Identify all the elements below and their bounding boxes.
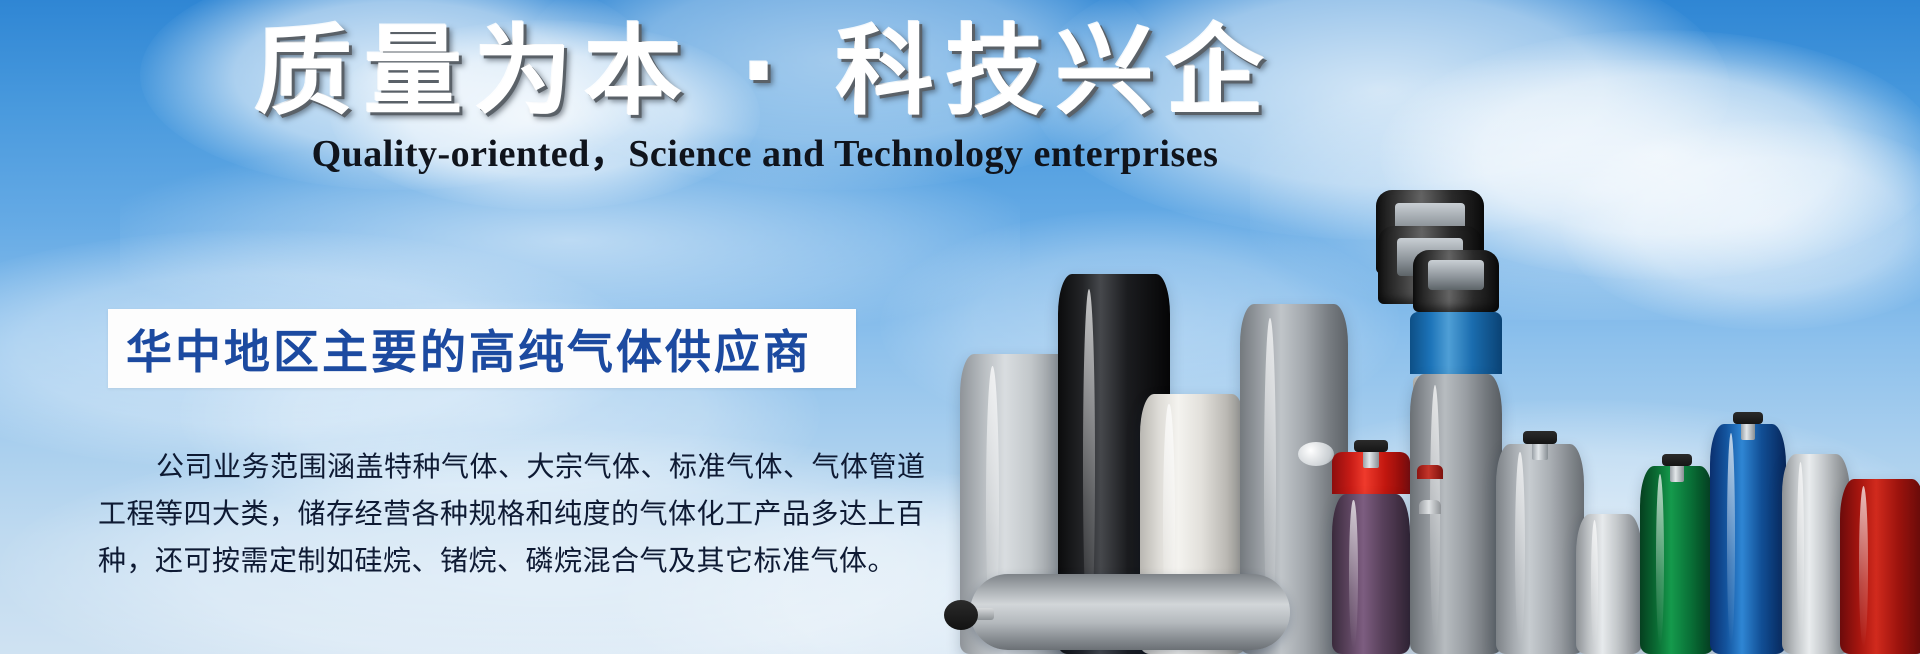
cylinder-blue bbox=[1710, 424, 1786, 654]
cylinder-blue-shoulder bbox=[1410, 312, 1502, 374]
valve-knob bbox=[944, 600, 978, 630]
cylinder-lying-down bbox=[970, 574, 1290, 650]
cap-window bbox=[1428, 260, 1483, 290]
valve-knob bbox=[1733, 412, 1763, 424]
cylinder-cap bbox=[1413, 250, 1499, 312]
cylinder-green bbox=[1640, 466, 1714, 654]
slogan-text: 华中地区主要的高纯气体供应商 bbox=[108, 316, 812, 382]
valve-knob bbox=[1523, 431, 1557, 444]
pressure-gauge bbox=[1298, 442, 1334, 466]
description-line: 公司业务范围涵盖特种气体、大宗气体、标准气体、气体管道 bbox=[98, 443, 898, 490]
cylinder-neck bbox=[1418, 440, 1442, 454]
valve-knob bbox=[1354, 440, 1388, 452]
description-line: 工程等四大类，储存经营各种规格和纯度的气体化工产品多达上百 bbox=[98, 490, 898, 537]
cylinder-neck bbox=[1417, 465, 1443, 479]
gas-cylinders-photo bbox=[940, 0, 1920, 654]
valve-knob bbox=[1662, 454, 1692, 466]
cylinder-neck bbox=[1419, 500, 1441, 514]
description-paragraph: 公司业务范围涵盖特种气体、大宗气体、标准气体、气体管道 工程等四大类，储存经营各… bbox=[98, 443, 898, 584]
promo-banner: 质量为本 · 科技兴企 Quality-oriented，Science and… bbox=[0, 0, 1920, 654]
cylinder-red bbox=[1840, 479, 1920, 654]
description-line: 种，还可按需定制如硅烷、锗烷、磷烷混合气及其它标准气体。 bbox=[98, 537, 898, 584]
slogan-box: 华中地区主要的高纯气体供应商 bbox=[108, 309, 856, 388]
cylinder-grey-medium bbox=[1496, 444, 1584, 654]
cylinder-blue-grey bbox=[1410, 374, 1502, 654]
cylinder-purple bbox=[1332, 494, 1410, 654]
cylinder-aluminium-small bbox=[1576, 514, 1642, 654]
